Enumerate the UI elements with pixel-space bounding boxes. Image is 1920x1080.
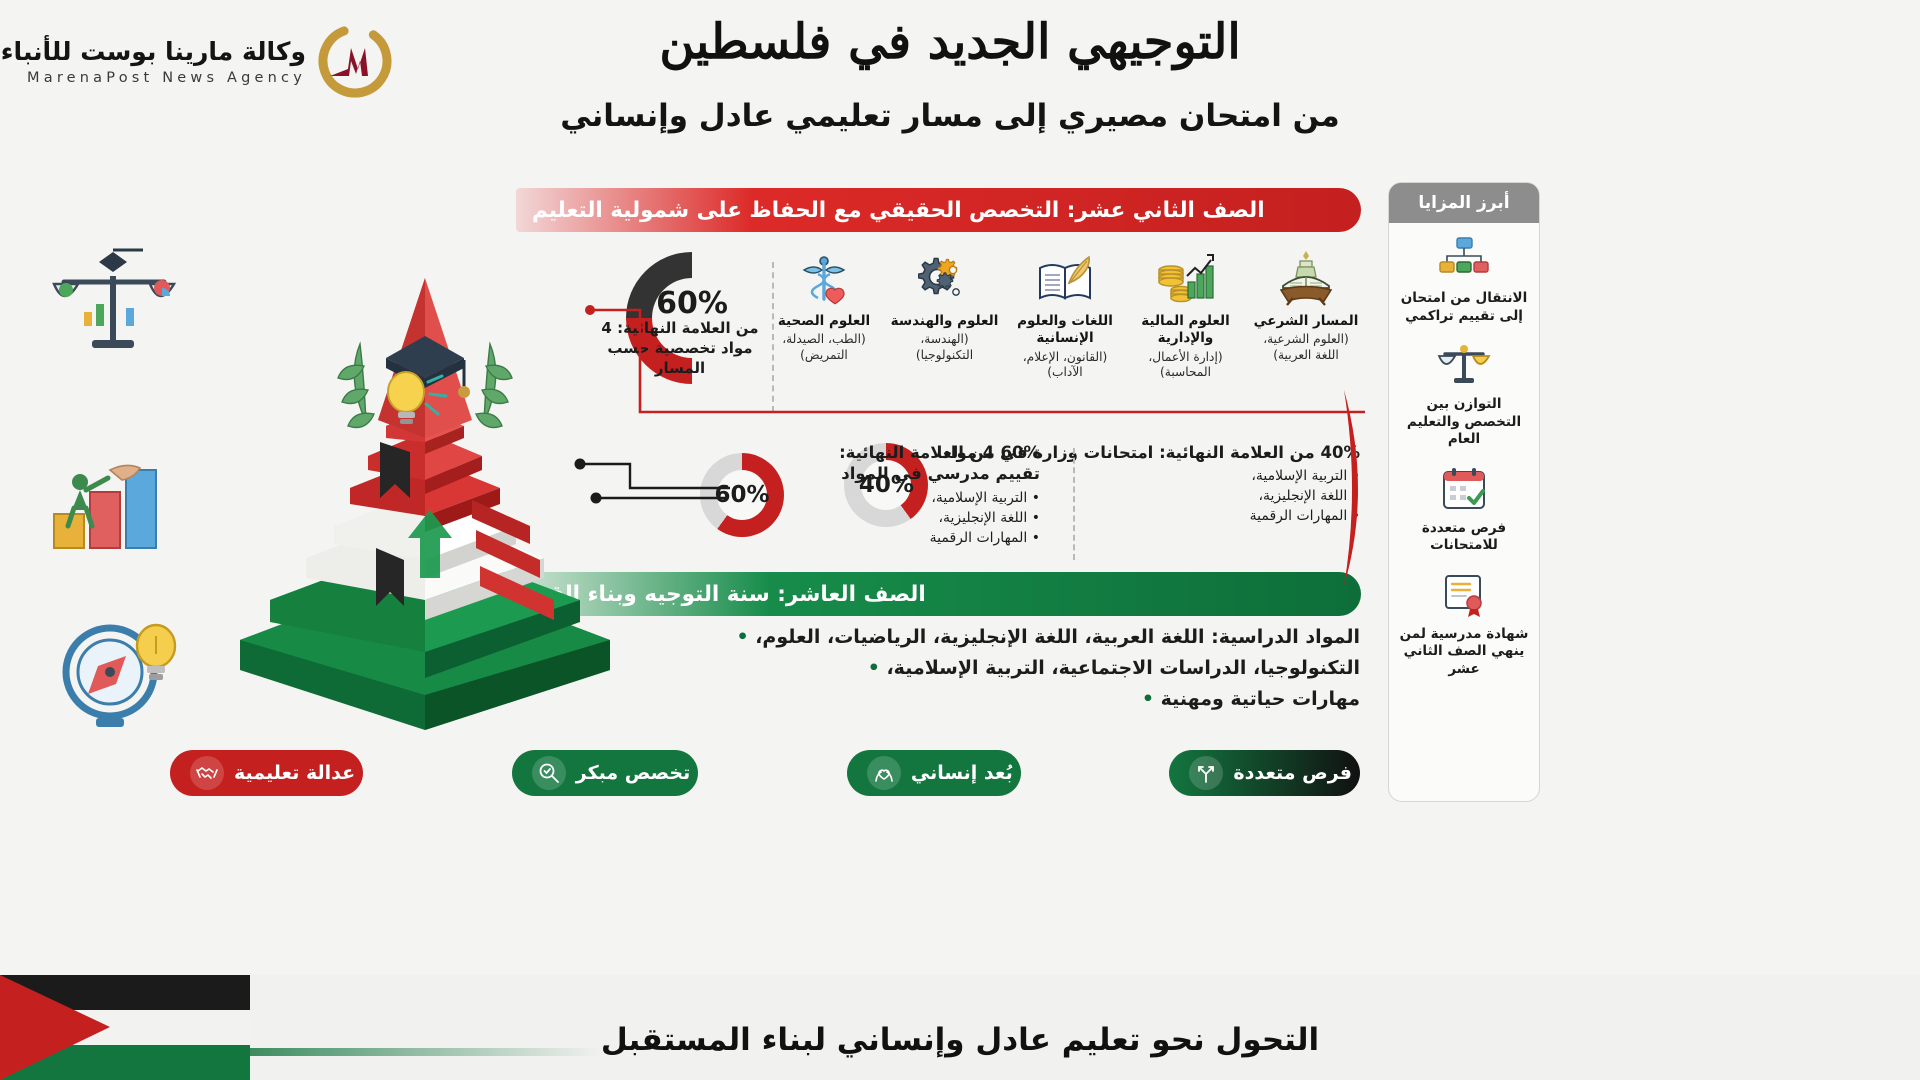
pill-justice[interactable]: عدالة تعليمية [170, 750, 363, 796]
grade12-header-bar: الصف الثاني عشر: التخصص الحقيقي مع الحفا… [516, 188, 1361, 232]
grade12-header-label: الصف الثاني عشر: التخصص الحقيقي مع الحفا… [532, 198, 1265, 223]
compass-idea-illustration [40, 600, 210, 744]
ministry-ring: 40% [844, 443, 928, 527]
calendar-check-icon [1397, 463, 1531, 515]
scales-icon [1397, 339, 1531, 391]
sidebar-item-label: الانتقال من امتحان إلى تقييم تراكمي [1397, 290, 1531, 325]
benefits-sidebar: أبرز المزايا الانتقال من امتحان إلى تقيي… [1388, 182, 1540, 802]
certificate-icon [1397, 569, 1531, 621]
sidebar-title: أبرز المزايا [1389, 183, 1539, 223]
sidebar-item-label: فرص متعددة للامتحانات [1397, 520, 1531, 555]
pill-multiple-opportunities[interactable]: فرص متعددة [1169, 750, 1360, 796]
grade10-header-bar: الصف العاشر: سنة التوجيه وبناء القرار [516, 572, 1361, 616]
growth-steps-illustration [40, 430, 200, 564]
grade12-gauge-value: 60% [626, 286, 758, 321]
sidebar-item-opportunities[interactable]: فرص متعددة للامتحانات [1389, 453, 1539, 559]
sidebar-item-label: التوازن بين التخصص والتعليم العام [1397, 396, 1531, 449]
pyramid-illustration [210, 170, 640, 730]
grade10-subject: مهارات حياتية ومهنية [640, 684, 1360, 715]
magnifier-check-icon [532, 756, 566, 790]
brand-logo: وكالة مارينا بوست للأنباء MarenaPost New… [22, 18, 392, 104]
grade10-subject: التكنولوجيا، الدراسات الاجتماعية، التربي… [640, 653, 1360, 684]
coins-chart-icon [1157, 248, 1215, 306]
school-value: 60% [700, 453, 784, 537]
sidebar-item-transition[interactable]: الانتقال من امتحان إلى تقييم تراكمي [1389, 223, 1539, 329]
flowchart-icon [1397, 233, 1531, 285]
key-features-pills: عدالة تعليمية تخصص مبكر بُعد إنساني [170, 750, 1360, 798]
pill-early-specialization[interactable]: تخصص مبكر [512, 750, 698, 796]
ministry-value: 40% [844, 443, 928, 527]
footer: التحول نحو تعليم عادل وإنساني لبناء المس… [0, 975, 1920, 1080]
pill-label: تخصص مبكر [576, 762, 690, 784]
footer-text: التحول نحو تعليم عادل وإنساني لبناء المس… [0, 1022, 1920, 1058]
pill-label: فرص متعددة [1233, 762, 1352, 784]
pill-label: بُعد إنساني [911, 762, 1013, 784]
heart-hands-icon [867, 756, 901, 790]
sidebar-item-certificate[interactable]: شهادة مدرسية لمن ينهي الصف الثاني عشر [1389, 559, 1539, 683]
arrows-branch-icon [1189, 756, 1223, 790]
book-quill-icon [1036, 248, 1094, 306]
quran-mosque-icon [1279, 248, 1333, 306]
page-subtitle: من امتحان مصيري إلى مسار تعليمي عادل وإن… [440, 96, 1460, 136]
gears-icon [918, 248, 972, 306]
sidebar-item-label: شهادة مدرسية لمن ينهي الصف الثاني عشر [1397, 626, 1531, 679]
divider-assessment [1073, 448, 1075, 560]
pill-label: عدالة تعليمية [234, 762, 355, 784]
grade10-subjects: المواد الدراسية: اللغة العربية، اللغة ال… [640, 622, 1360, 714]
assessment-section: 40% 40% من العلامة النهائية: امتحانات وز… [700, 438, 1360, 558]
grade10-subject: المواد الدراسية: اللغة العربية، اللغة ال… [640, 622, 1360, 653]
scales-chart-illustration [40, 238, 200, 372]
assessment-ministry: 40% 40% من العلامة النهائية: امتحانات وز… [844, 442, 1360, 527]
school-ring: 60% [700, 453, 784, 537]
brand-name-ar: وكالة مارينا بوست للأنباء [1, 37, 306, 66]
handshake-icon [190, 756, 224, 790]
school-item: المهارات الرقمية [798, 529, 1040, 549]
connector-grade12 [560, 300, 1370, 450]
infographic-root: وكالة مارينا بوست للأنباء MarenaPost New… [0, 0, 1920, 1080]
brand-name-en: MarenaPost News Agency [27, 70, 306, 86]
marenapost-logo-icon [318, 24, 392, 98]
page-title: التوجيهي الجديد في فلسطين [440, 14, 1460, 71]
sidebar-item-balance[interactable]: التوازن بين التخصص والتعليم العام [1389, 329, 1539, 453]
red-arrow-indicator [1338, 390, 1388, 590]
caduceus-heart-icon [798, 248, 850, 306]
pill-human-dimension[interactable]: بُعد إنساني [847, 750, 1021, 796]
